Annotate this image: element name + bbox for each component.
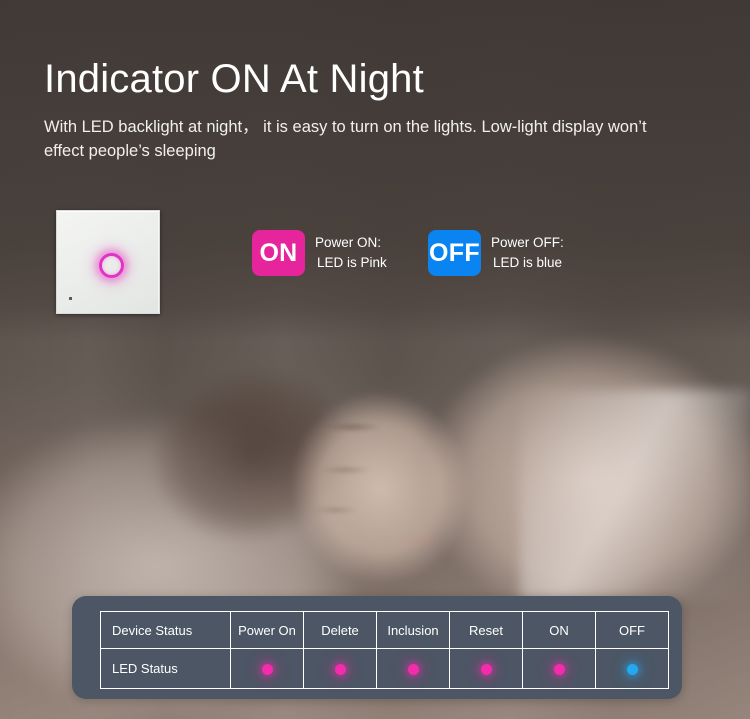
row-label-led-status: LED Status [101, 649, 231, 689]
legend-power-on-line2: LED is Pink [315, 253, 387, 273]
led-status-table: Device Status Power On Delete Inclusion … [100, 611, 669, 689]
column-header-reset: Reset [450, 612, 523, 649]
legend-power-on-line1: Power ON: [315, 235, 381, 250]
switch-status-dot-icon [69, 297, 72, 300]
legend-power-off: OFF Power OFF: LED is blue [428, 230, 564, 276]
led-indicator-icon [408, 664, 419, 675]
table-body: Device Status Power On Delete Inclusion … [101, 612, 669, 689]
led-cell-delete [304, 649, 377, 689]
promo-page: Indicator ON At Night With LED backlight… [0, 0, 750, 719]
row-label-device-status: Device Status [101, 612, 231, 649]
led-cell-inclusion [377, 649, 450, 689]
on-badge: ON [252, 230, 305, 276]
led-cell-power-on [231, 649, 304, 689]
page-subtitle: With LED backlight at night， it is easy … [44, 116, 684, 164]
legend-power-off-line1: Power OFF: [491, 235, 564, 250]
led-indicator-icon [335, 664, 346, 675]
led-cell-reset [450, 649, 523, 689]
legend-power-off-text: Power OFF: LED is blue [491, 233, 564, 272]
page-title: Indicator ON At Night [44, 56, 424, 102]
led-indicator-icon [481, 664, 492, 675]
led-indicator-icon [554, 664, 565, 675]
led-cell-on [523, 649, 596, 689]
legend-power-off-line2: LED is blue [491, 253, 564, 273]
column-header-on: ON [523, 612, 596, 649]
led-status-card: Device Status Power On Delete Inclusion … [72, 596, 682, 699]
column-header-delete: Delete [304, 612, 377, 649]
legend-power-on-text: Power ON: LED is Pink [315, 233, 387, 272]
led-indicator-icon [262, 664, 273, 675]
table-row-header: Device Status Power On Delete Inclusion … [101, 612, 669, 649]
led-ring-indicator-icon [99, 253, 124, 278]
led-cell-off [596, 649, 669, 689]
column-header-inclusion: Inclusion [377, 612, 450, 649]
legend-power-on: ON Power ON: LED is Pink [252, 230, 387, 276]
led-indicator-icon [627, 664, 638, 675]
off-badge: OFF [428, 230, 481, 276]
column-header-off: OFF [596, 612, 669, 649]
switch-panel-face [56, 210, 160, 314]
switch-panel-image [56, 210, 160, 314]
column-header-power-on: Power On [231, 612, 304, 649]
table-row-led-status: LED Status [101, 649, 669, 689]
